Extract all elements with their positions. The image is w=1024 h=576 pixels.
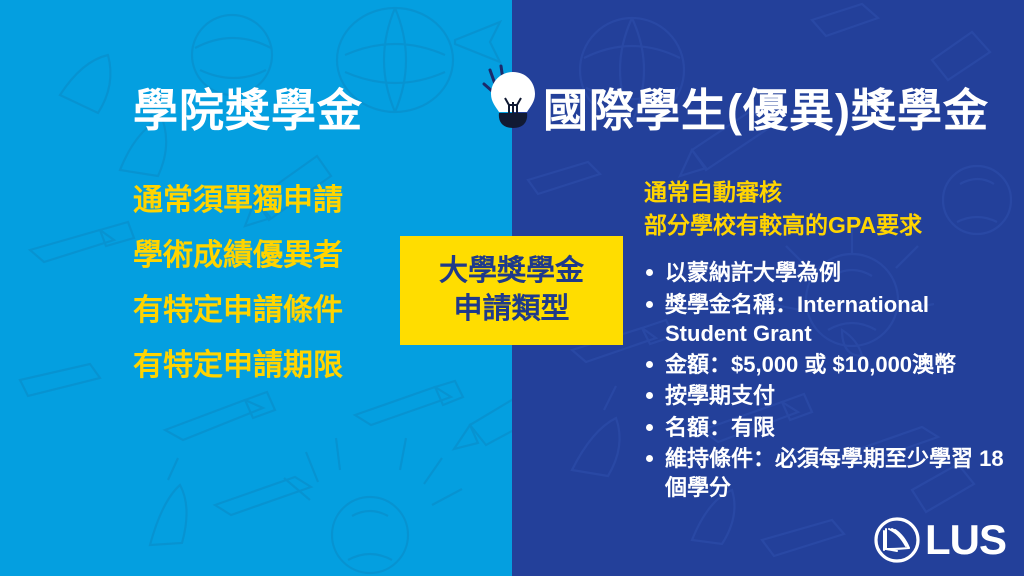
list-item: 通常須單獨申請 — [133, 186, 463, 216]
bullet-dot-icon — [646, 424, 653, 431]
center-callout-line-1: 大學獎學金 — [439, 255, 584, 288]
lightbulb-icon — [482, 64, 544, 140]
list-item-label: 名額：有限 — [665, 413, 775, 442]
brand-logo-text: LUS — [925, 519, 1006, 561]
bullet-dot-icon — [646, 301, 653, 308]
center-callout-box: 大學獎學金 申請類型 — [400, 236, 623, 345]
slide-root: 學院獎學金 國際學生(優異)獎學金 通常須單獨申請 學術成績優異者 有特定申請條… — [0, 0, 1024, 576]
left-panel-title: 學院獎學金 — [133, 74, 363, 139]
list-item-label: 金額：$5,000 或 $10,000澳幣 — [665, 350, 956, 379]
bullet-dot-icon — [646, 455, 653, 462]
list-item: 按學期支付 — [644, 381, 1004, 410]
list-item-label: 以蒙納許大學為例 — [665, 258, 841, 287]
list-item-label: 按學期支付 — [665, 381, 775, 410]
list-item: 維持條件：必須每學期至少學習 18 個學分 — [644, 444, 1004, 503]
bullet-dot-icon — [646, 361, 653, 368]
right-heading: 通常自動審核 — [644, 176, 1004, 209]
bullet-dot-icon — [646, 392, 653, 399]
center-callout-line-2: 申請類型 — [453, 293, 569, 326]
right-heading: 部分學校有較高的GPA要求 — [644, 209, 1004, 242]
brand-logo: LUS — [873, 516, 1006, 564]
list-item: 名額：有限 — [644, 413, 1004, 442]
right-panel-content: 通常自動審核 部分學校有較高的GPA要求 以蒙納許大學為例 獎學金名稱：Inte… — [644, 176, 1004, 504]
list-item: 以蒙納許大學為例 — [644, 258, 1004, 287]
list-item: 有特定申請期限 — [133, 351, 463, 381]
bullet-dot-icon — [646, 269, 653, 276]
right-bullet-list: 以蒙納許大學為例 獎學金名稱：International Student Gra… — [644, 258, 1004, 502]
list-item: 金額：$5,000 或 $10,000澳幣 — [644, 350, 1004, 379]
open-book-circle-icon — [873, 516, 921, 564]
list-item-label: 獎學金名稱：International Student Grant — [665, 290, 1004, 349]
list-item-label: 維持條件：必須每學期至少學習 18 個學分 — [665, 444, 1004, 503]
list-item: 獎學金名稱：International Student Grant — [644, 290, 1004, 349]
right-panel-title: 國際學生(優異)獎學金 — [543, 74, 989, 139]
